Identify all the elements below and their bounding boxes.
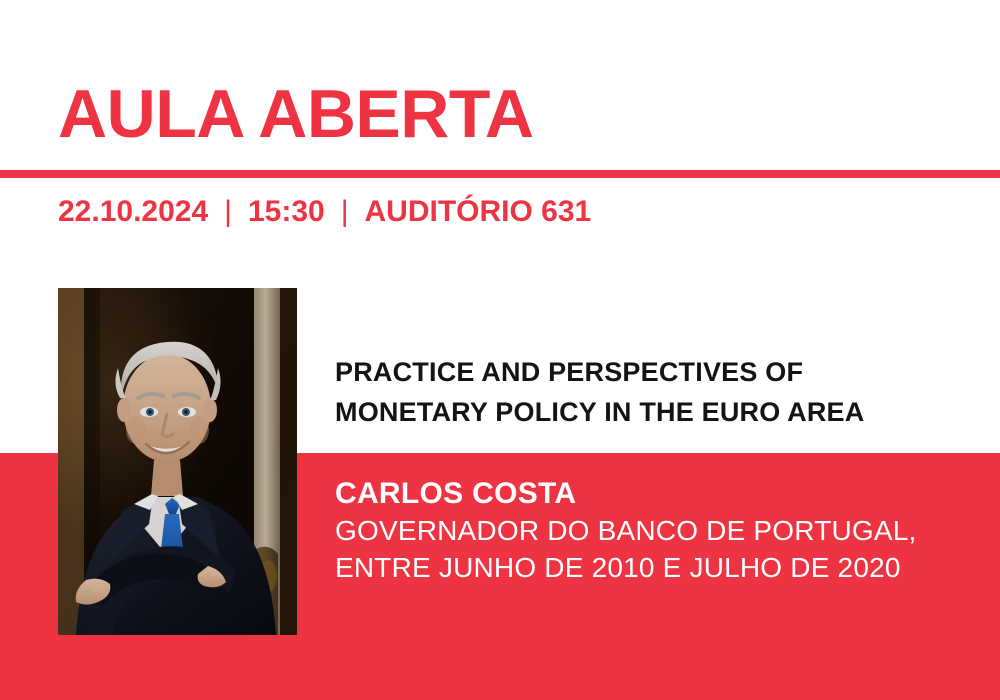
event-date: 22.10.2024 [58,194,208,230]
portrait-illustration [58,288,297,635]
talk-title-line-2: MONETARY POLICY IN THE EURO AREA [335,392,985,432]
event-venue: AUDITÓRIO 631 [364,194,591,230]
speaker-role-line-1: GOVERNADOR DO BANCO DE PORTUGAL, [335,512,985,549]
speaker-photo [58,288,297,635]
page-title: AULA ABERTA [58,78,533,150]
meta-separator-1: | [224,194,232,230]
header-divider [0,170,1000,178]
speaker-block: CARLOS COSTA GOVERNADOR DO BANCO DE PORT… [335,476,985,586]
event-meta: 22.10.2024 | 15:30 | AUDITÓRIO 631 [58,194,591,230]
speaker-name: CARLOS COSTA [335,476,985,512]
event-time: 15:30 [248,194,325,230]
talk-title-line-1: PRACTICE AND PERSPECTIVES OF [335,352,985,392]
speaker-role-line-2: ENTRE JUNHO DE 2010 E JULHO DE 2020 [335,549,985,586]
event-poster: AULA ABERTA 22.10.2024 | 15:30 | AUDITÓR… [0,0,1000,700]
meta-separator-2: | [341,194,349,230]
talk-title: PRACTICE AND PERSPECTIVES OF MONETARY PO… [335,352,985,432]
